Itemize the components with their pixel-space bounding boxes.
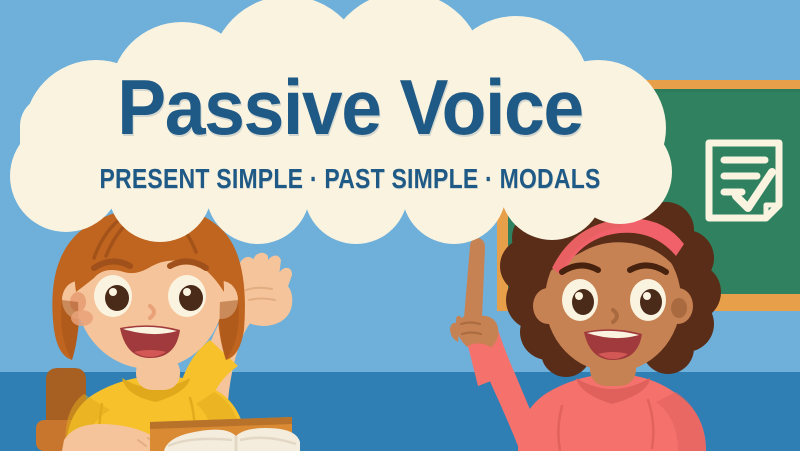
classroom-scene [0,0,800,451]
poster-canvas: Passive Voice PRESENT SIMPLE · PAST SIMP… [0,0,800,451]
